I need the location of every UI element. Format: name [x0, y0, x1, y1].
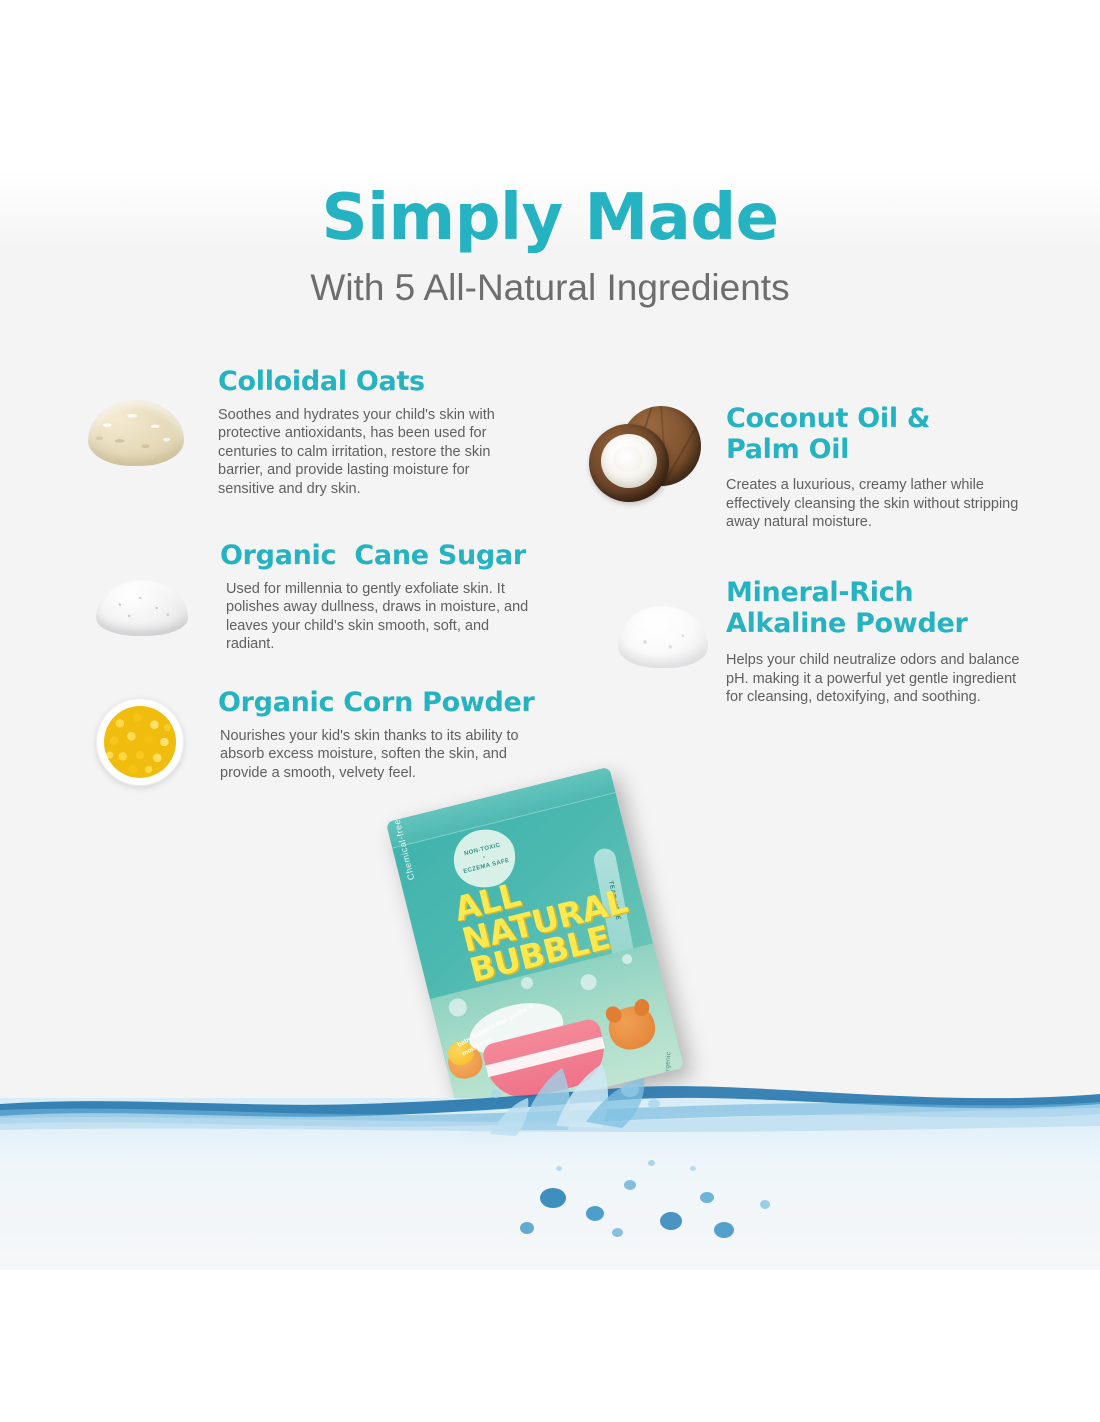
- ingredient-colloidal-oats: Colloidal Oats Soothes and hydrates your…: [218, 367, 518, 498]
- ingredient-description: Nourishes your kid's skin thanks to its …: [218, 727, 548, 783]
- coconut-flesh: [601, 434, 657, 488]
- ingredient-name: Mineral-Rich Alkaline Powder: [726, 578, 1026, 639]
- water-bubble: [660, 1212, 682, 1230]
- ingredient-image-alkaline-powder: [614, 586, 714, 686]
- water-bubble: [586, 1206, 604, 1221]
- water-bubble: [520, 1222, 534, 1234]
- ingredient-corn-powder: Organic Corn Powder Nourishes your kid's…: [218, 688, 548, 782]
- ingredient-image-colloidal-oats: [88, 382, 198, 492]
- cane-sugar-pile-image: [96, 580, 188, 636]
- ingredient-name: Organic Corn Powder: [218, 688, 548, 719]
- ingredient-image-corn-powder: [92, 692, 192, 792]
- alkaline-powder-pile-image: [618, 606, 708, 668]
- water-bubble: [714, 1222, 734, 1238]
- ingredient-name: Organic Cane Sugar: [220, 541, 540, 572]
- bubble-icon: [621, 953, 633, 965]
- ingredient-name: Coconut Oil & Palm Oil: [726, 404, 1026, 465]
- coconut-cavity: [613, 446, 643, 472]
- ingredient-image-coconut-oil: [583, 402, 708, 512]
- corn-kernels-bowl-image: [96, 698, 184, 786]
- ingredient-description: Used for millennia to gently exfoliate s…: [220, 580, 540, 654]
- ingredient-alkaline-powder: Mineral-Rich Alkaline Powder Helps your …: [726, 578, 1026, 707]
- page-title: Simply Made: [0, 186, 1100, 250]
- water-bubble: [540, 1188, 566, 1208]
- coconut-half-front: [589, 424, 669, 502]
- bubble-icon: [447, 997, 469, 1019]
- bubble-icon: [579, 972, 598, 991]
- oat-flakes-pile-image: [88, 400, 184, 466]
- ingredient-coconut-oil: Coconut Oil & Palm Oil Creates a luxurio…: [726, 404, 1026, 532]
- cracked-coconut-image: [583, 402, 703, 507]
- water-bubble: [760, 1200, 770, 1209]
- ingredient-description: Helps your child neutralize odors and ba…: [726, 651, 1026, 707]
- water-bubble: [648, 1160, 655, 1166]
- product-infographic: Simply Made With 5 All-Natural Ingredien…: [0, 0, 1100, 1422]
- corn-kernels: [104, 706, 176, 778]
- water-splash-graphic: [0, 1060, 1100, 1270]
- bottom-margin: [0, 1270, 1100, 1422]
- ingredient-description: Soothes and hydrates your child's skin w…: [218, 406, 518, 499]
- ingredient-cane-sugar: Organic Cane Sugar Used for millennia to…: [220, 541, 540, 654]
- ingredient-image-cane-sugar: [90, 556, 200, 656]
- ingredient-description: Creates a luxurious, creamy lather while…: [726, 476, 1026, 532]
- water-bubble: [700, 1192, 714, 1203]
- water-bubble: [690, 1166, 696, 1171]
- dog-character-icon: [605, 1002, 660, 1054]
- ingredient-name: Colloidal Oats: [218, 367, 518, 398]
- bubble-icon: [520, 976, 535, 991]
- page-subtitle: With 5 All-Natural Ingredients: [0, 268, 1100, 309]
- water-bubble: [624, 1180, 636, 1190]
- water-bubble: [612, 1228, 623, 1237]
- water-bubble: [556, 1166, 562, 1171]
- water-splash-crown: [430, 1060, 790, 1210]
- badge-line-2: ECZEMA SAFE: [463, 857, 511, 877]
